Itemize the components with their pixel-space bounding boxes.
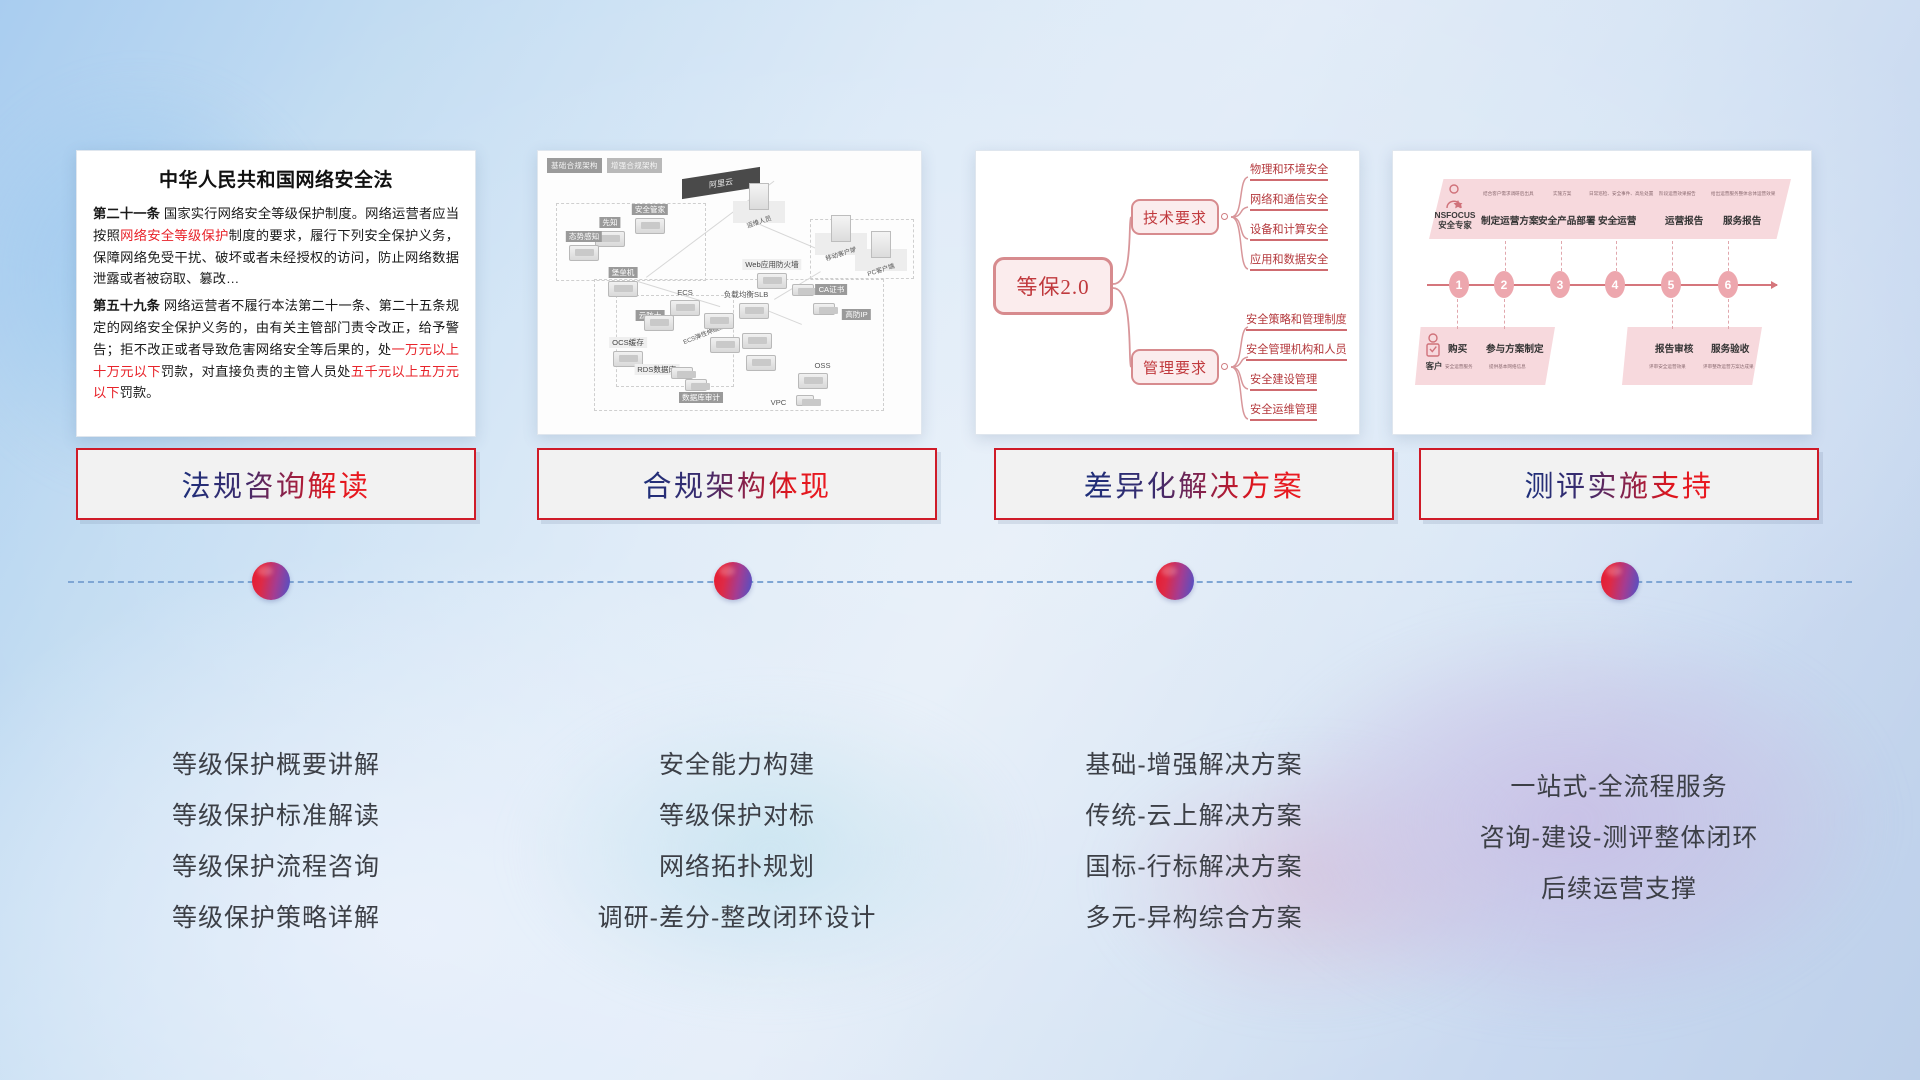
list-item: 安全能力构建	[537, 740, 937, 791]
customer-icon	[1423, 333, 1443, 359]
node-ecs-instance	[746, 355, 776, 373]
node-vpc[interactable]: VPC	[766, 395, 814, 413]
node-label: Web应用防火墙	[742, 259, 801, 270]
list-item: 国标-行标解决方案	[994, 842, 1394, 893]
title-label: 测评实施支持	[1524, 463, 1713, 505]
node-icon-box	[746, 355, 776, 371]
mindmap-leaf[interactable]: 物理和环境安全	[1250, 161, 1328, 181]
list-item: 调研-差分-整改闭环设计	[537, 893, 937, 944]
node-icon-box	[742, 333, 772, 349]
mindmap-branch-management[interactable]: 管理要求	[1131, 349, 1219, 385]
preview-card-row: 中华人民共和国网络安全法 第二十一条 国家实行网络安全等级保护制度。网络运营者应…	[0, 150, 1920, 440]
mindmap-collapse-icon[interactable]	[1221, 213, 1228, 220]
timeline-dashed-line	[68, 581, 1852, 583]
flow-top-title-2: 安全产品部署	[1538, 213, 1596, 227]
node-mobile-client[interactable]: 移动客户端	[820, 213, 862, 253]
mindmap-leaf[interactable]: 安全运维管理	[1250, 401, 1317, 421]
list-item: 等级保护标准解读	[76, 791, 476, 842]
mindmap-leaf[interactable]: 设备和计算安全	[1250, 221, 1328, 241]
flow-role-provider-line2: 安全专家	[1429, 221, 1481, 231]
timeline-dot-3[interactable]	[1156, 562, 1194, 600]
mindmap-root-node[interactable]: 等保2.0	[993, 257, 1113, 315]
card-mindmap[interactable]: 等保2.0 技术要求 管理要求 物理和环境安全 网络和通信安全 设备和计算安全 …	[975, 150, 1360, 435]
list-item: 等级保护流程咨询	[76, 842, 476, 893]
title-box-regulation-consulting[interactable]: 法规咨询解读	[76, 448, 476, 520]
law-text-run: 罚款。	[120, 385, 160, 400]
list-item: 基础-增强解决方案	[994, 740, 1394, 791]
list-item: 后续运营支撑	[1419, 864, 1819, 915]
node-icon-box	[608, 281, 638, 297]
card-service-flow[interactable]: NSFOCUS 安全专家 客户 1 2 3 4 5 6	[1392, 150, 1812, 435]
flow-step-dot-4[interactable]: 4	[1605, 271, 1625, 298]
node-icon-box	[739, 303, 769, 319]
flow-top-title-5: 服务报告	[1723, 213, 1761, 227]
list-item: 等级保护策略详解	[76, 893, 476, 944]
tab-enhanced-compliance[interactable]: 增强合规架构	[607, 158, 662, 173]
node-rds-database[interactable]: RDS数据库	[642, 365, 688, 389]
feature-list-row: 等级保护概要讲解 等级保护标准解读 等级保护流程咨询 等级保护策略详解 安全能力…	[0, 740, 1920, 960]
node-label: OSS	[811, 360, 833, 371]
title-label: 差异化解决方案	[1084, 463, 1305, 505]
timeline-dot-1[interactable]	[252, 562, 290, 600]
node-label: 高防IP	[842, 309, 870, 320]
node-user-icon	[749, 183, 769, 210]
flow-bottom-title-2: 参与方案制定	[1486, 341, 1544, 355]
flow-connector	[1504, 299, 1505, 329]
law-text-highlight: 网络安全等级保护	[120, 228, 229, 243]
list-item: 多元-异构综合方案	[994, 893, 1394, 944]
node-label: 数据库审计	[679, 392, 723, 403]
flow-bottom-sub-4: 评审整改运营方案达成果	[1703, 364, 1754, 370]
title-label: 法规咨询解读	[181, 463, 370, 505]
flow-step-dot-6[interactable]: 6	[1718, 271, 1738, 298]
list-item: 一站式-全流程服务	[1419, 762, 1819, 813]
node-icon-box	[796, 395, 814, 406]
title-box-compliance-architecture[interactable]: 合规架构体现	[537, 448, 937, 520]
flow-band-provider	[1429, 179, 1791, 239]
law-article-number: 第五十九条	[93, 298, 160, 313]
flow-bottom-sub-3: 评审安全运营效果	[1649, 364, 1686, 370]
security-expert-icon	[1441, 183, 1467, 209]
node-icon-box	[569, 245, 599, 261]
node-label: 态势感知	[566, 231, 602, 242]
mindmap-leaf[interactable]: 安全策略和管理制度	[1246, 311, 1347, 331]
node-device-icon	[831, 215, 851, 242]
node-bastion-host[interactable]: 堡垒机	[604, 269, 642, 301]
flow-step-dot-1[interactable]: 1	[1449, 271, 1469, 298]
flow-top-title-1: 制定运营方案	[1481, 213, 1539, 227]
node-icon-box	[670, 300, 700, 316]
node-label: 堡垒机	[609, 267, 638, 278]
flow-connector	[1728, 299, 1729, 329]
mindmap-branch-technical[interactable]: 技术要求	[1131, 199, 1219, 235]
flow-connector	[1616, 241, 1617, 271]
flow-step-dot-5[interactable]: 5	[1661, 271, 1681, 298]
law-document-body: 中华人民共和国网络安全法 第二十一条 国家实行网络安全等级保护制度。网络运营者应…	[77, 151, 475, 416]
node-oss[interactable]: OSS	[796, 363, 830, 393]
flow-top-sub-5: 给出运营服务整体总体运营效果	[1711, 191, 1775, 197]
flow-connector	[1728, 241, 1729, 271]
node-icon-box	[685, 379, 707, 391]
node-label: ECS	[674, 287, 696, 298]
list-item: 等级保护概要讲解	[76, 740, 476, 791]
node-security-housekeeper[interactable]: 安全管家	[628, 206, 672, 236]
flow-top-sub-3: 日常巡检、安全事件、高危处置	[1589, 191, 1653, 197]
flow-bottom-sub-2: 提供基本网络信息	[1489, 364, 1526, 370]
node-ecs-instance	[710, 337, 740, 355]
mindmap-leaf[interactable]: 应用和数据安全	[1250, 251, 1328, 271]
list-item: 网络拓扑规划	[537, 842, 937, 893]
flow-band-customer-right	[1622, 327, 1762, 385]
card-law-document[interactable]: 中华人民共和国网络安全法 第二十一条 国家实行网络安全等级保护制度。网络运营者应…	[76, 150, 476, 437]
mindmap-canvas: 等保2.0 技术要求 管理要求 物理和环境安全 网络和通信安全 设备和计算安全 …	[976, 151, 1359, 434]
feature-list-assessment: 一站式-全流程服务 咨询-建设-测评整体闭环 后续运营支撑	[1419, 762, 1819, 915]
flow-step-dot-2[interactable]: 2	[1494, 271, 1514, 298]
law-paragraph: 第五十九条 网络运营者不履行本法第二十一条、第二十五条规定的网络安全保护义务的，…	[93, 295, 459, 404]
flow-bottom-title-3: 报告审核	[1655, 341, 1693, 355]
title-label: 合规架构体现	[642, 463, 831, 505]
node-anti-ddos-ip[interactable]: 高防IP	[818, 303, 870, 325]
flow-bottom-title-1: 购买	[1448, 341, 1467, 355]
mindmap-leaf[interactable]: 网络和通信安全	[1250, 191, 1328, 211]
node-label: CA证书	[816, 284, 848, 295]
flow-connector	[1505, 241, 1506, 271]
flow-connector	[1672, 299, 1673, 329]
title-box-differentiated-solution[interactable]: 差异化解决方案	[994, 448, 1394, 520]
node-ops-personnel[interactable]: 运维人员	[738, 181, 780, 221]
mindmap-collapse-icon[interactable]	[1221, 363, 1228, 370]
flow-top-sub-2: 实施方案	[1553, 191, 1571, 197]
timeline	[0, 562, 1920, 602]
architecture-tab-group: 基础合规架构 增强合规架构	[547, 158, 662, 173]
node-icon-box	[798, 373, 828, 389]
architecture-canvas: 基础合规架构 增强合规架构 阿里云 安全管家 先知	[538, 151, 921, 434]
node-label: VPC	[768, 397, 790, 408]
node-label: 安全管家	[632, 204, 668, 215]
law-text-run: 罚款，对直接负责的主管人员处	[161, 364, 351, 379]
flow-top-title-3: 安全运营	[1598, 213, 1636, 227]
flow-connector	[1672, 241, 1673, 271]
title-box-assessment-support[interactable]: 测评实施支持	[1419, 448, 1819, 520]
node-icon-box	[757, 273, 787, 289]
list-item: 等级保护对标	[537, 791, 937, 842]
tab-basic-compliance[interactable]: 基础合规架构	[547, 158, 602, 173]
flow-connector	[1561, 241, 1562, 271]
flow-role-provider: NSFOCUS 安全专家	[1429, 211, 1481, 231]
node-situational-awareness[interactable]: 态势感知	[562, 233, 606, 263]
node-database-audit[interactable]: 数据库审计	[678, 387, 724, 411]
flow-top-sub-1: 结合客户需求调研后出具	[1483, 191, 1534, 197]
node-slb[interactable]: 负载均衡SLB	[720, 291, 772, 323]
node-ecs[interactable]: ECS	[668, 289, 702, 321]
feature-list-architecture: 安全能力构建 等级保护对标 网络拓扑规划 调研-差分-整改闭环设计	[537, 740, 937, 944]
flow-connector	[1457, 299, 1458, 329]
list-item: 咨询-建设-测评整体闭环	[1419, 813, 1819, 864]
flow-bottom-sub-1: 安全运营服务	[1445, 364, 1473, 370]
feature-list-regulation: 等级保护概要讲解 等级保护标准解读 等级保护流程咨询 等级保护策略详解	[76, 740, 476, 944]
law-title: 中华人民共和国网络安全法	[93, 165, 459, 192]
law-article-number: 第二十一条	[93, 206, 160, 221]
mindmap-leaf[interactable]: 安全建设管理	[1250, 371, 1317, 391]
law-paragraph: 第二十一条 国家实行网络安全等级保护制度。网络运营者应当按照网络安全等级保护制度…	[93, 203, 459, 290]
flow-top-sub-4: 阶段运营效果报告	[1659, 191, 1696, 197]
feature-list-solution: 基础-增强解决方案 传统-云上解决方案 国标-行标解决方案 多元-异构综合方案	[994, 740, 1394, 944]
flow-bottom-title-4: 服务验收	[1711, 341, 1749, 355]
node-ecs-instance	[742, 333, 772, 351]
flow-top-title-4: 运营报告	[1665, 213, 1703, 227]
title-box-row: 法规咨询解读 合规架构体现 差异化解决方案 测评实施支持	[0, 448, 1920, 520]
timeline-dot-4[interactable]	[1601, 562, 1639, 600]
node-icon-box	[792, 284, 814, 296]
list-item: 传统-云上解决方案	[994, 791, 1394, 842]
timeline-dot-2[interactable]	[714, 562, 752, 600]
flow-canvas: NSFOCUS 安全专家 客户 1 2 3 4 5 6	[1393, 151, 1811, 434]
mindmap-leaf[interactable]: 安全管理机构和人员	[1246, 341, 1347, 361]
node-device-icon	[871, 231, 891, 258]
node-icon-box	[710, 337, 740, 353]
node-icon-box	[671, 367, 693, 379]
card-architecture-diagram[interactable]: 基础合规架构 增强合规架构 阿里云 安全管家 先知	[537, 150, 922, 435]
node-label: 先知	[599, 217, 620, 228]
node-label: OCS缓存	[609, 337, 647, 348]
node-icon-box	[813, 303, 835, 315]
flow-step-dot-3[interactable]: 3	[1550, 271, 1570, 298]
node-pc-client[interactable]: PC客户端	[860, 229, 902, 269]
node-icon-box	[635, 218, 665, 234]
